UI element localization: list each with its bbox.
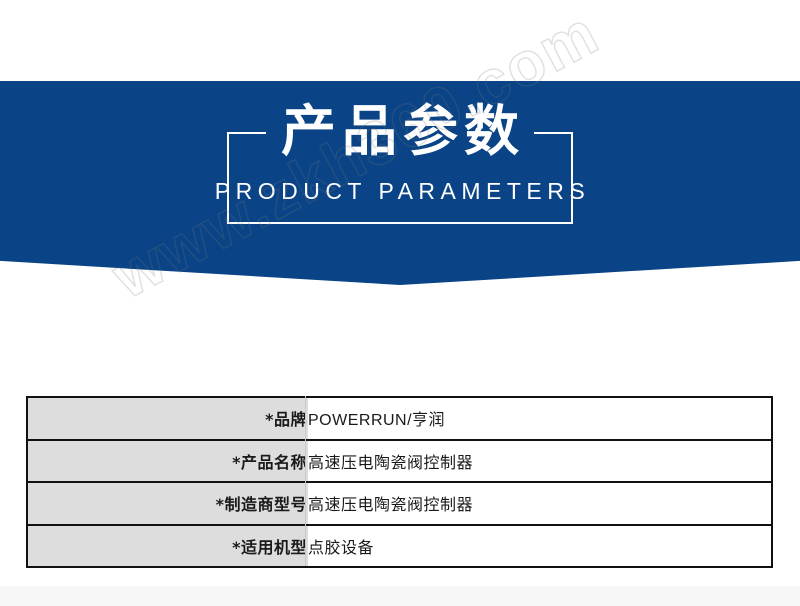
page-title-en: PRODUCT PARAMETERS bbox=[0, 177, 800, 205]
param-value: 高速压电陶瓷阀控制器 bbox=[308, 440, 773, 483]
param-label: *制造商型号 bbox=[27, 482, 308, 525]
table-body: *品牌 POWERRUN/亨润 *产品名称 高速压电陶瓷阀控制器 *制造商型号 … bbox=[27, 397, 772, 567]
table-row: *制造商型号 高速压电陶瓷阀控制器 bbox=[27, 482, 772, 525]
table-column-divider bbox=[305, 396, 306, 566]
param-label: *适用机型 bbox=[27, 525, 308, 568]
param-label: *品牌 bbox=[27, 397, 308, 440]
product-parameters-table: *品牌 POWERRUN/亨润 *产品名称 高速压电陶瓷阀控制器 *制造商型号 … bbox=[26, 396, 773, 568]
page-title-cn: 产品参数 bbox=[0, 98, 800, 164]
table-row: *产品名称 高速压电陶瓷阀控制器 bbox=[27, 440, 772, 483]
table-row: *品牌 POWERRUN/亨润 bbox=[27, 397, 772, 440]
param-value: 点胶设备 bbox=[308, 525, 773, 568]
param-value: 高速压电陶瓷阀控制器 bbox=[308, 482, 773, 525]
param-label: *产品名称 bbox=[27, 440, 308, 483]
param-value: POWERRUN/亨润 bbox=[308, 397, 773, 440]
table-row: *适用机型 点胶设备 bbox=[27, 525, 772, 568]
product-parameters-page: 产品参数 PRODUCT PARAMETERS www.zkh360.com *… bbox=[0, 0, 800, 606]
footer-band bbox=[0, 586, 800, 606]
